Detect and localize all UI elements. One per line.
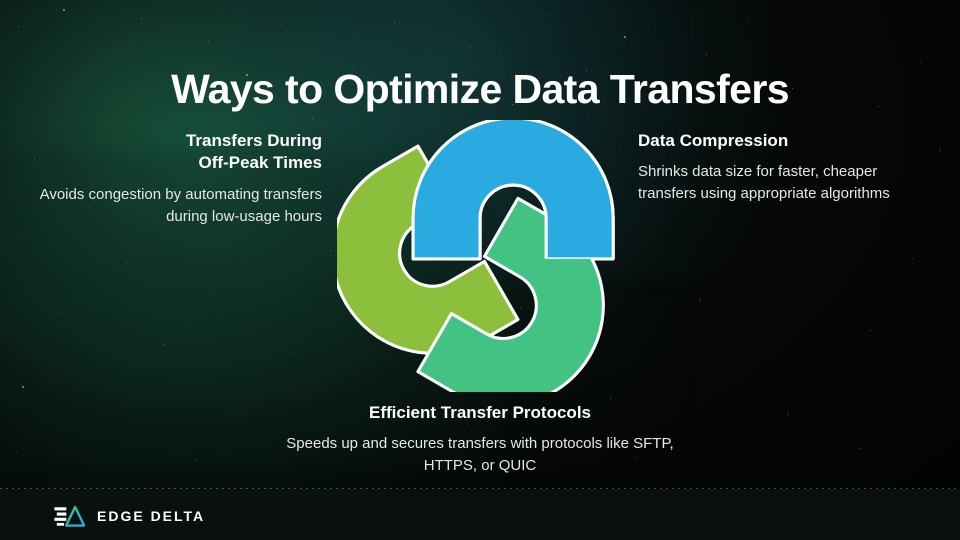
- footer-content: EDGE DELTA: [0, 489, 960, 540]
- callout-bottom-heading: Efficient Transfer Protocols: [276, 402, 684, 424]
- callout-right-heading: Data Compression: [638, 130, 938, 152]
- page-title: Ways to Optimize Data Transfers: [0, 67, 960, 112]
- brand-logo: EDGE DELTA: [54, 505, 205, 527]
- callout-left-body: Avoids congestion by automating transfer…: [26, 184, 322, 228]
- callout-right-body: Shrinks data size for faster, cheaper tr…: [638, 161, 938, 205]
- slide-canvas: Ways to Optimize Data Transfers Transfer…: [0, 0, 960, 540]
- brand-logo-text: EDGE DELTA: [97, 508, 205, 524]
- center-graphic: [337, 120, 629, 392]
- triskelion-svg: [337, 120, 629, 392]
- callout-right: Data Compression Shrinks data size for f…: [638, 130, 938, 205]
- callout-left: Transfers During Off-Peak Times Avoids c…: [26, 130, 322, 227]
- edge-delta-logo-mark-icon: [54, 505, 86, 527]
- callout-bottom: Efficient Transfer Protocols Speeds up a…: [276, 402, 684, 477]
- callout-left-heading: Transfers During Off-Peak Times: [26, 130, 322, 175]
- callout-bottom-body: Speeds up and secures transfers with pro…: [276, 433, 684, 477]
